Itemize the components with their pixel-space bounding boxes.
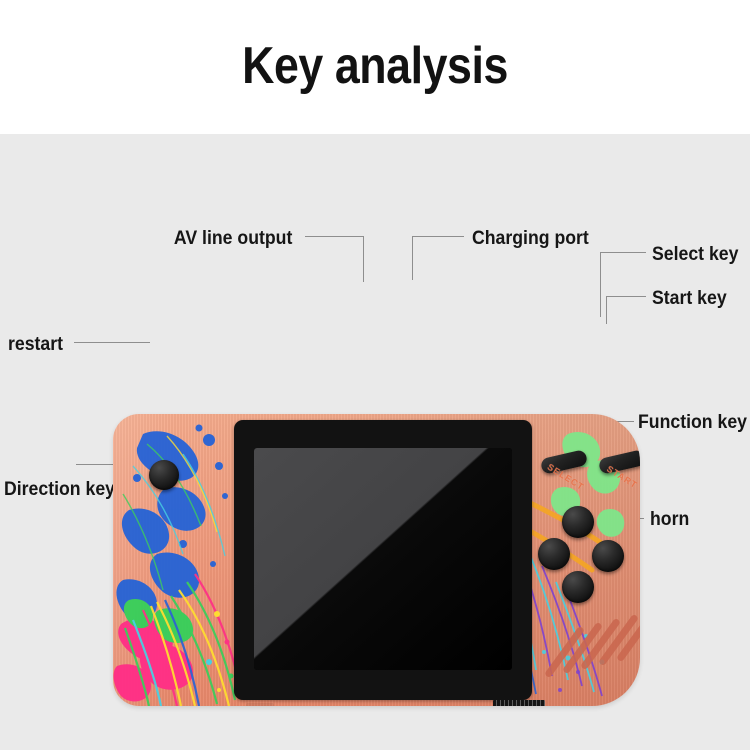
function-key-button[interactable]	[592, 540, 624, 572]
page-title: Key analysis	[53, 36, 698, 96]
leader-charging-port-v	[412, 236, 413, 280]
label-restart: restart	[8, 334, 63, 356]
leader-start-key-v	[606, 296, 607, 324]
label-select-key: Select key	[652, 244, 738, 266]
open-key-switch[interactable]	[493, 700, 545, 706]
action-button-bottom[interactable]	[562, 571, 594, 603]
diagram-canvas: Key analysis AV line output Charging por…	[0, 0, 750, 750]
label-horn: horn	[650, 509, 689, 531]
header-band: Key analysis	[0, 0, 750, 134]
action-button-left[interactable]	[538, 538, 570, 570]
leader-select-key-h	[600, 252, 646, 253]
handheld-console-body: SELECT START	[113, 414, 640, 706]
action-button-top[interactable]	[562, 506, 594, 538]
leader-av-line-output-h	[305, 236, 364, 237]
illustration-area: AV line output Charging port Select key …	[0, 134, 750, 750]
leader-restart-h	[74, 342, 150, 343]
restart-button[interactable]	[149, 460, 179, 490]
leader-start-key-h	[606, 296, 646, 297]
horn-speaker-grille	[557, 622, 640, 684]
label-start-key: Start key	[652, 288, 727, 310]
label-direction-key: Direction key	[4, 479, 115, 501]
label-av-line-output: AV line output	[174, 228, 292, 250]
screen-panel	[254, 448, 512, 670]
label-charging-port: Charging port	[472, 228, 589, 250]
paint-splatter-left	[113, 414, 243, 706]
leader-charging-port-h	[412, 236, 464, 237]
screen-reflection	[254, 448, 512, 670]
screen-bezel	[234, 420, 532, 700]
leader-av-line-output-v	[363, 236, 364, 282]
label-function-key: Function key	[638, 412, 747, 434]
leader-select-key-v	[600, 252, 601, 317]
volume-key-nub[interactable]	[246, 703, 274, 706]
